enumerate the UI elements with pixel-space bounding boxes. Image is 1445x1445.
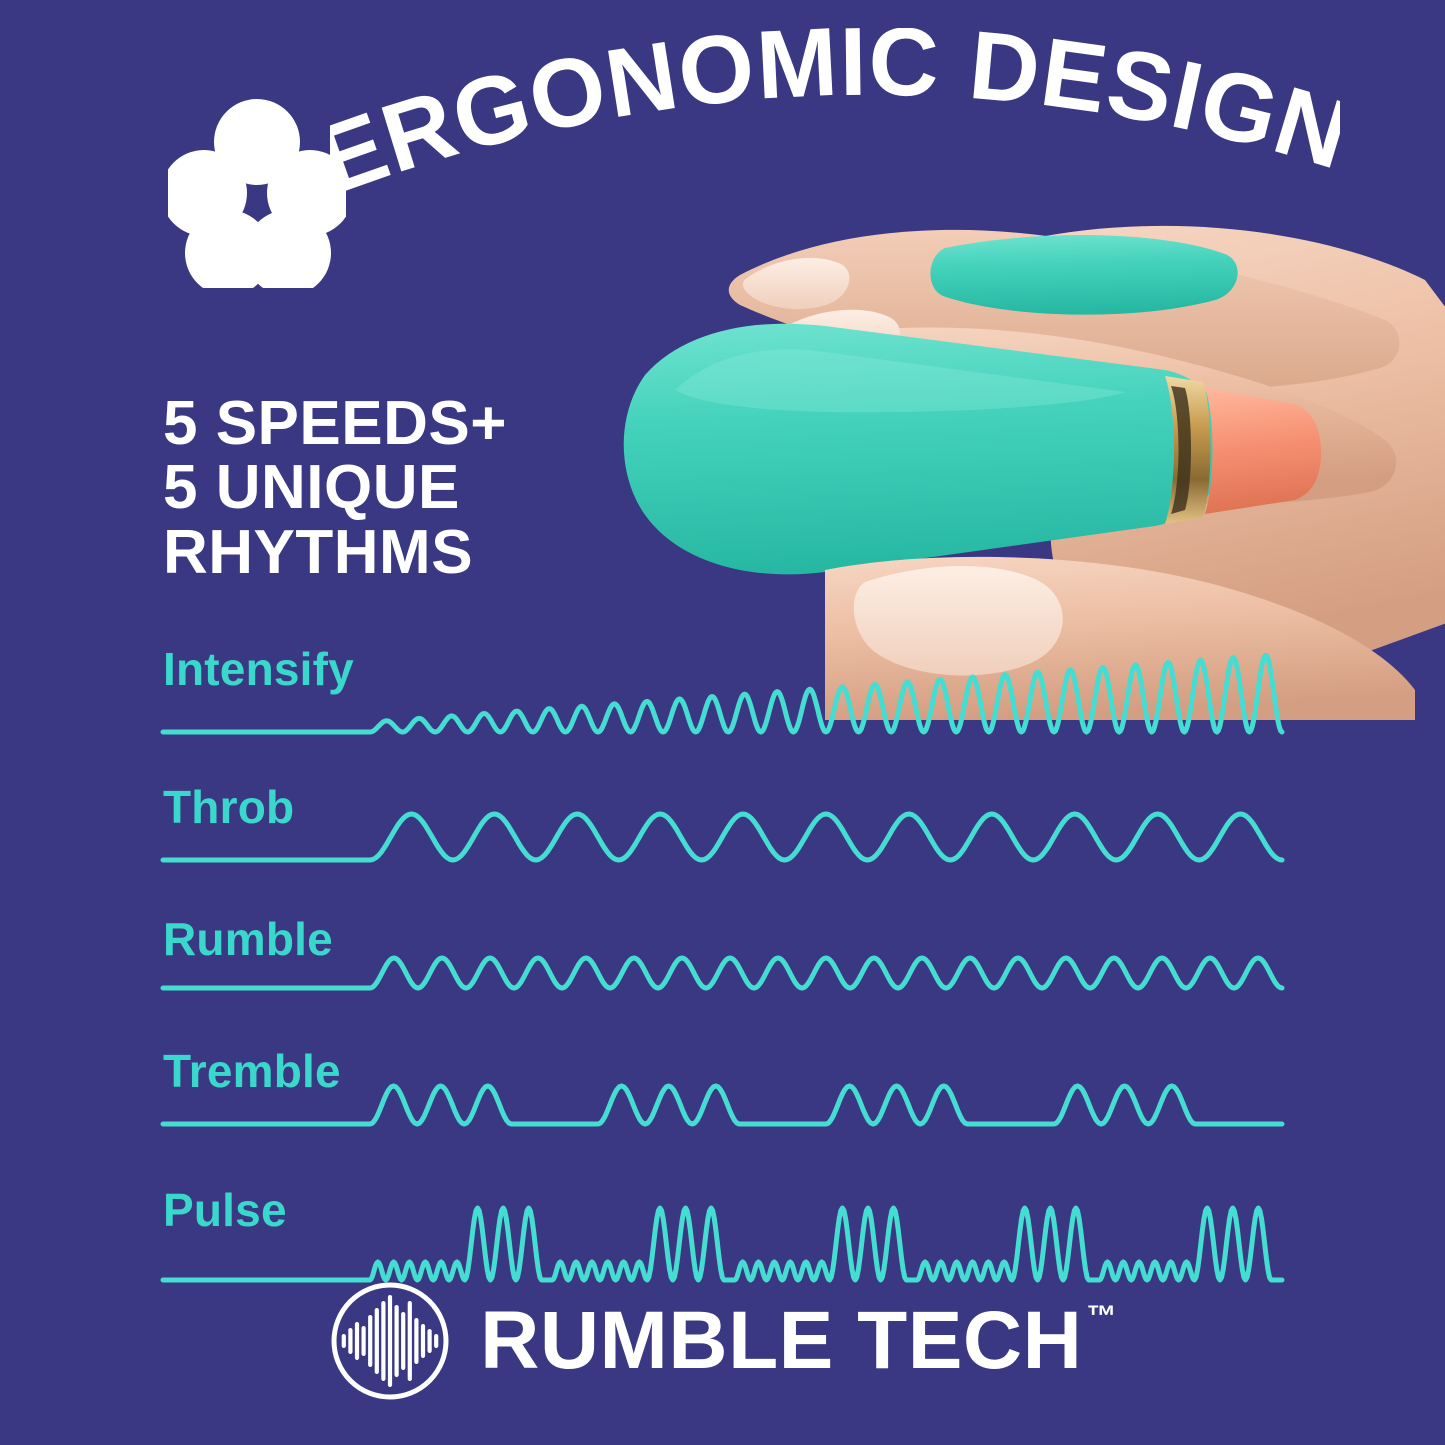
rhythm-row-intensify: Intensify [0, 620, 1445, 770]
rhythm-row-throb: Throb [0, 770, 1445, 920]
rhythm-row-rumble: Rumble [0, 900, 1445, 1050]
audio-waveform-circle-icon [328, 1279, 452, 1403]
waveform-intensify [0, 620, 1445, 770]
page-title-text: ERGONOMIC DESIGN [330, 28, 1340, 203]
waveform-rumble [0, 900, 1445, 1050]
product-top-sliver [930, 235, 1237, 315]
brand-lockup: RUMBLE TECH ™ [0, 1279, 1445, 1403]
brand-name-block: RUMBLE TECH ™ [480, 1294, 1117, 1388]
waveform-tremble [0, 1032, 1445, 1182]
waveform-throb [0, 770, 1445, 920]
infographic-canvas: ERGONOMIC DESIGN 5 SPEEDS+ 5 UNIQUE RHYT… [0, 0, 1445, 1445]
rhythm-row-tremble: Tremble [0, 1032, 1445, 1182]
page-title: ERGONOMIC DESIGN [330, 28, 1340, 203]
brand-name: RUMBLE TECH [480, 1294, 1082, 1388]
pentagon-molecule-logo [168, 98, 346, 288]
brand-trademark: ™ [1086, 1300, 1117, 1334]
